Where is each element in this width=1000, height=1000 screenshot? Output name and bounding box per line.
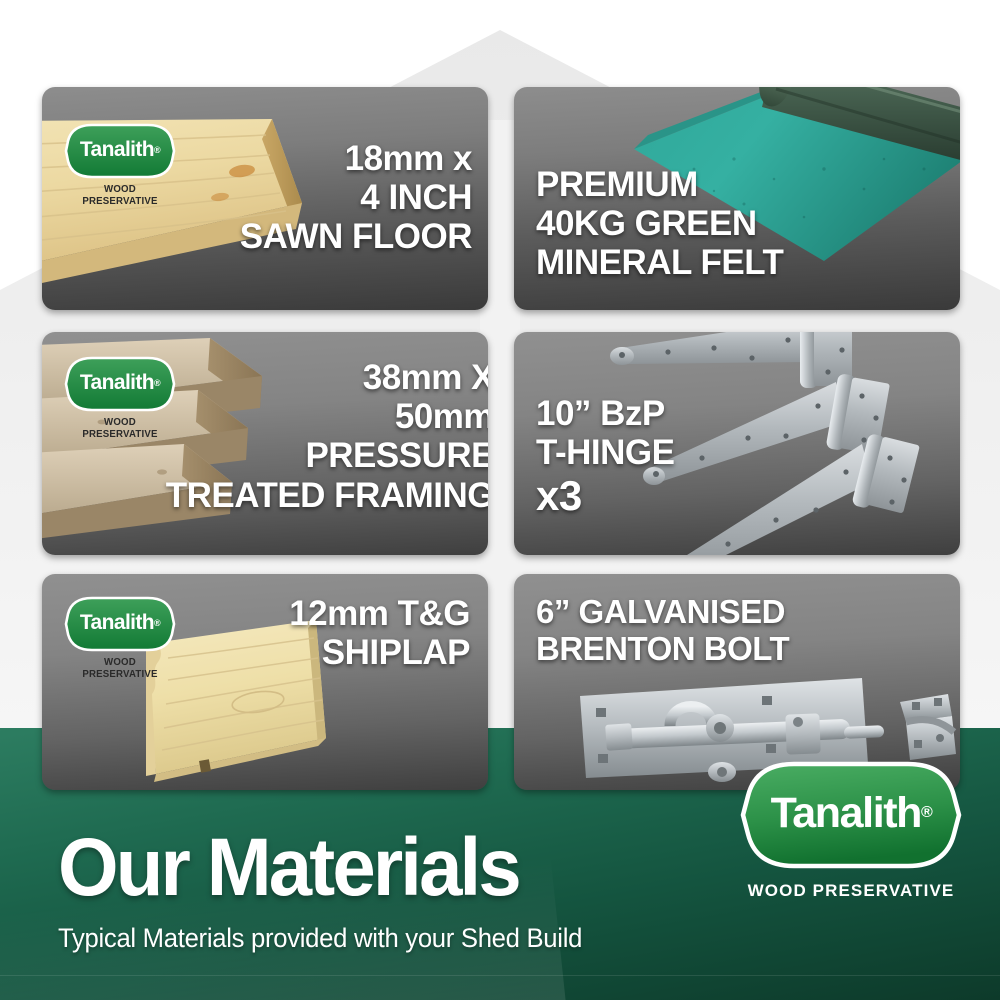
card-line-2: 50mm bbox=[166, 397, 488, 436]
tanalith-tagline: WOOD PRESERVATIVE bbox=[68, 656, 171, 680]
card-line-2: BRENTON BOLT bbox=[536, 631, 789, 668]
tanalith-wordmark: Tanalith® bbox=[64, 596, 176, 652]
card-line-4: TREATED FRAMING bbox=[166, 476, 488, 515]
card-line-1: 18mm x bbox=[240, 139, 472, 178]
card-label-shiplap: 12mm T&G SHIPLAP bbox=[289, 594, 470, 672]
materials-infographic: Tanalith® WOOD PRESERVATIVE 18mm x 4 INC… bbox=[0, 0, 1000, 1000]
tanalith-wordmark: Tanalith® bbox=[64, 356, 176, 412]
footer-content: Our Materials Typical Materials provided… bbox=[0, 728, 1000, 1000]
card-line-2: 40KG GREEN bbox=[536, 204, 783, 243]
card-line-2: SHIPLAP bbox=[289, 633, 470, 672]
card-sawn-floor[interactable]: Tanalith® WOOD PRESERVATIVE 18mm x 4 INC… bbox=[42, 87, 488, 310]
tanalith-name: Tanalith bbox=[80, 138, 154, 162]
card-line-3: PRESSURE bbox=[166, 436, 488, 475]
card-label-t-hinge: 10” BzP T-HINGE x3 bbox=[536, 394, 674, 519]
card-mineral-felt[interactable]: PREMIUM 40KG GREEN MINERAL FELT bbox=[514, 87, 960, 310]
footer-tanalith-logo: Tanalith® WOOD PRESERVATIVE bbox=[740, 760, 962, 901]
card-line-3: x3 bbox=[536, 472, 674, 519]
footer-registered-mark: ® bbox=[921, 804, 931, 822]
card-line-3: SAWN FLOOR bbox=[240, 217, 472, 256]
card-label-sawn-floor: 18mm x 4 INCH SAWN FLOOR bbox=[240, 139, 472, 257]
tanalith-name: Tanalith bbox=[80, 611, 154, 635]
card-line-1: 10” BzP bbox=[536, 394, 674, 433]
footer-headline: Our Materials bbox=[58, 821, 519, 915]
footer-subline: Typical Materials provided with your She… bbox=[58, 923, 582, 954]
card-line-2: T-HINGE bbox=[536, 433, 674, 472]
card-line-3: MINERAL FELT bbox=[536, 243, 783, 282]
card-label-framing: 38mm X 50mm PRESSURE TREATED FRAMING bbox=[166, 358, 488, 515]
footer-logo-wordmark: Tanalith® bbox=[740, 760, 962, 870]
card-pressure-treated-framing[interactable]: Tanalith® WOOD PRESERVATIVE 38mm X 50mm … bbox=[42, 332, 488, 555]
registered-mark: ® bbox=[154, 378, 160, 388]
card-label-mineral-felt: PREMIUM 40KG GREEN MINERAL FELT bbox=[536, 165, 783, 283]
materials-grid: Tanalith® WOOD PRESERVATIVE 18mm x 4 INC… bbox=[0, 0, 1000, 800]
tanalith-name: Tanalith bbox=[80, 371, 154, 395]
card-line-1: 38mm X bbox=[166, 358, 488, 397]
tanalith-badge: Tanalith® WOOD PRESERVATIVE bbox=[64, 356, 176, 440]
card-t-hinge[interactable]: 10” BzP T-HINGE x3 bbox=[514, 332, 960, 555]
card-line-1: PREMIUM bbox=[536, 165, 783, 204]
tanalith-wordmark: Tanalith® bbox=[64, 123, 176, 179]
footer-logo-tagline: WOOD PRESERVATIVE bbox=[740, 881, 962, 901]
card-label-brenton-bolt: 6” GALVANISED BRENTON BOLT bbox=[536, 594, 789, 668]
tanalith-badge: Tanalith® WOOD PRESERVATIVE bbox=[64, 596, 176, 680]
card-line-1: 6” GALVANISED bbox=[536, 594, 789, 631]
tanalith-badge: Tanalith® WOOD PRESERVATIVE bbox=[64, 123, 176, 207]
tanalith-tagline: WOOD PRESERVATIVE bbox=[68, 183, 171, 207]
registered-mark: ® bbox=[154, 145, 160, 155]
tanalith-tagline: WOOD PRESERVATIVE bbox=[68, 416, 171, 440]
footer-logo-name: Tanalith bbox=[771, 789, 921, 838]
card-line-2: 4 INCH bbox=[240, 178, 472, 217]
card-line-1: 12mm T&G bbox=[289, 594, 470, 633]
registered-mark: ® bbox=[154, 618, 160, 628]
